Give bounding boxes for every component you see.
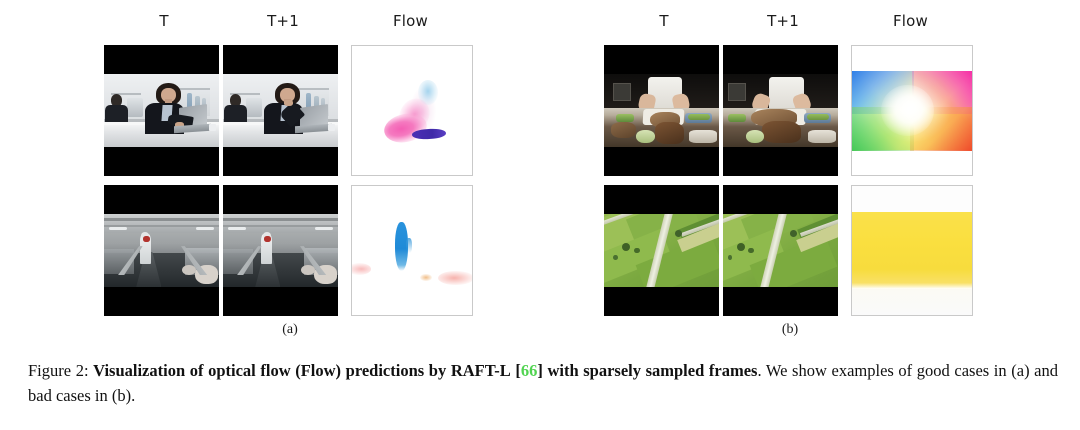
frame-t-farmland: [604, 185, 719, 316]
frame-t1-office: [223, 45, 338, 176]
figure-caption: Figure 2: Visualization of optical flow …: [28, 358, 1058, 408]
panel-b-column-headers: T T+1 Flow: [590, 12, 990, 38]
caption-bold-tail: with sparsely sampled frames: [547, 361, 757, 380]
frame-t-cooking: [604, 45, 719, 176]
panel-b-row-1: [590, 45, 990, 176]
column-header-t1: T+1: [723, 12, 843, 30]
frame-t-office: [104, 45, 219, 176]
subcaption-b: (b): [590, 322, 990, 338]
panel-a: T T+1 Flow: [90, 0, 490, 345]
frame-t1-farmland: [723, 185, 838, 316]
panel-a-column-headers: T T+1 Flow: [90, 12, 490, 38]
panel-b: T T+1 Flow: [590, 0, 990, 345]
column-header-flow: Flow: [848, 12, 973, 30]
citation-reference[interactable]: 66: [521, 361, 538, 380]
column-header-t1: T+1: [223, 12, 343, 30]
caption-bold-lead: Visualization of optical flow (Flow) pre…: [93, 361, 511, 380]
flow-map-yellow-field: [851, 185, 973, 316]
flow-map-office: [351, 45, 473, 176]
column-header-t: T: [104, 12, 224, 30]
figure-container: T T+1 Flow: [0, 0, 1080, 430]
column-header-t: T: [604, 12, 724, 30]
flow-map-barn: [351, 185, 473, 316]
panel-b-row-2: [590, 185, 990, 316]
panel-a-row-1: [90, 45, 490, 176]
panel-a-row-2: [90, 185, 490, 316]
subcaption-a: (a): [90, 322, 490, 338]
figure-label: Figure 2:: [28, 361, 89, 380]
frame-t1-cooking: [723, 45, 838, 176]
flow-map-color-wheel: [851, 45, 973, 176]
frame-t-barn: [104, 185, 219, 316]
column-header-flow: Flow: [348, 12, 473, 30]
frame-t1-barn: [223, 185, 338, 316]
